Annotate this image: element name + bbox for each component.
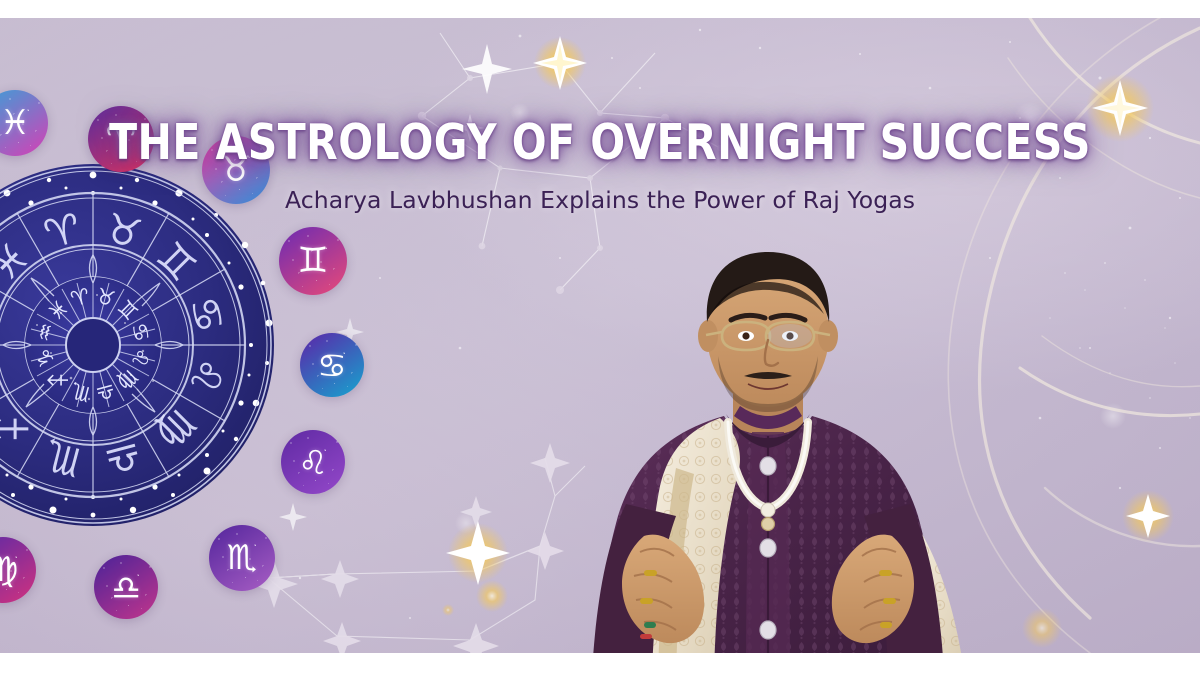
- badge-leo[interactable]: ♌: [281, 430, 345, 494]
- badge-libra-glyph: ♎: [111, 571, 141, 604]
- badge-libra[interactable]: ♎: [94, 555, 158, 619]
- artwork-canvas: ♈ ♉ ♊ ♋ ♌ ♍ ♎ ♏ ♐ ♑ ♒ ♓ ♈ ♉ ♊ ♋ ♌ ♍: [0, 18, 1200, 653]
- badge-leo-glyph: ♌: [298, 446, 328, 479]
- badge-pisces[interactable]: ♓: [0, 90, 48, 156]
- badge-gemini[interactable]: ♊: [279, 227, 347, 295]
- badge-taurus-glyph: ♉: [220, 153, 251, 188]
- badge-pisces-glyph: ♓: [0, 106, 30, 140]
- badge-gemini-glyph: ♊: [297, 244, 328, 279]
- top-white-strip: [0, 0, 1200, 18]
- badge-scorpio-glyph: ♏: [227, 541, 257, 575]
- badge-taurus[interactable]: ♉: [202, 136, 270, 204]
- badge-scorpio[interactable]: ♏: [209, 525, 275, 591]
- badge-virgo-glyph: ♍: [0, 553, 18, 587]
- constellation-lower-burst: [442, 521, 510, 616]
- acharya-lavbhushan-portrait: [548, 236, 988, 653]
- zodiac-wheel[interactable]: ♈ ♉ ♊ ♋ ♌ ♍ ♎ ♏ ♐ ♑ ♒ ♓ ♈ ♉ ♊ ♋ ♌ ♍: [0, 163, 275, 527]
- badge-aries-glyph: ♈: [106, 122, 136, 156]
- badge-cancer[interactable]: ♋: [300, 333, 364, 397]
- bottom-white-strip: [0, 653, 1200, 675]
- badge-cancer-glyph: ♋: [317, 349, 347, 382]
- badge-aries[interactable]: ♈: [88, 106, 154, 172]
- constellation-bright-star: [533, 36, 587, 90]
- small-star-bottom-left: [279, 503, 307, 531]
- astrology-banner: ♈ ♉ ♊ ♋ ♌ ♍ ♎ ♏ ♐ ♑ ♒ ♓ ♈ ♉ ♊ ♋ ♌ ♍: [0, 0, 1200, 675]
- badge-virgo[interactable]: ♍: [0, 537, 36, 603]
